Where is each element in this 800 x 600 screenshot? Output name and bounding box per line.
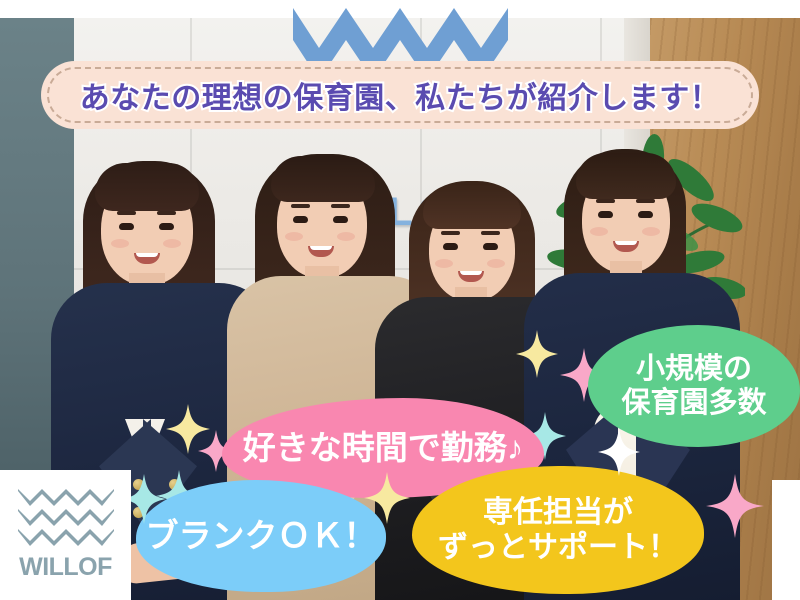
hair-fringe <box>423 185 521 229</box>
sparkle-yellow-2 <box>516 330 558 378</box>
headline-text: あなたの理想の保育園、私たちが紹介します！ <box>80 73 721 117</box>
bubble-line: ずっとサポート！ <box>438 530 678 565</box>
willof-wordmark: WILLOF <box>19 553 112 582</box>
bubble-line: 小規模の <box>621 352 766 386</box>
bubble-line: ブランクＯＫ！ <box>146 517 377 556</box>
willof-logo-card: WILLOF <box>0 470 131 600</box>
hair-fringe <box>271 156 375 202</box>
bubble-dedicated-support: 専任担当が ずっとサポート！ <box>412 466 704 594</box>
white-wall-strip <box>772 480 800 600</box>
willof-zigzag-icon <box>18 489 114 547</box>
sparkle-yellow-3 <box>364 472 410 524</box>
hair-fringe <box>576 153 676 199</box>
sparkle-white-1 <box>598 428 640 476</box>
bubble-line: 好きな時間で勤務♪ <box>243 429 524 468</box>
headline-banner: あなたの理想の保育園、私たちが紹介します！ <box>41 61 759 129</box>
bubble-line: 専任担当が <box>438 495 678 530</box>
hair-fringe <box>95 163 199 211</box>
sparkle-pink-3 <box>706 474 764 538</box>
bubble-line: 保育園多数 <box>621 386 766 420</box>
recruitment-ad-banner: WILLOF <box>0 0 800 600</box>
bubble-blank-ok: ブランクＯＫ！ <box>136 480 386 592</box>
